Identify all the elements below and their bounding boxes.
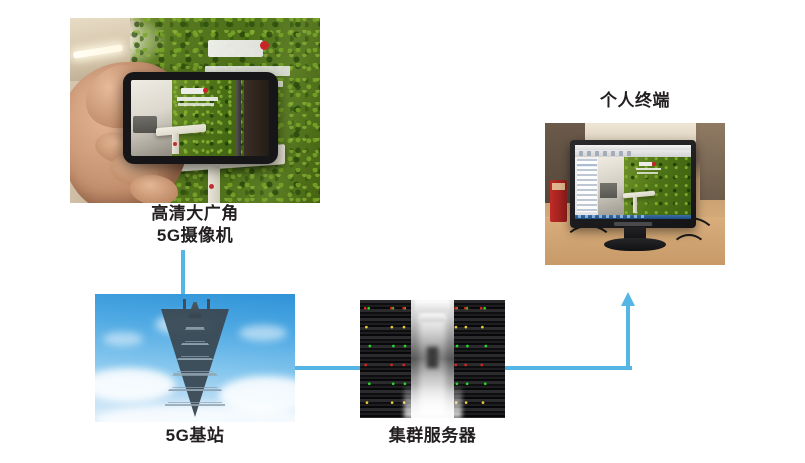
wall-logo xyxy=(208,40,263,57)
node-image-camera xyxy=(70,18,320,203)
node-image-base-station xyxy=(95,294,295,422)
tower-brace xyxy=(185,329,205,342)
server-rack xyxy=(463,300,476,418)
feed-shelf-post xyxy=(633,196,638,213)
screen-dark-edge xyxy=(244,80,269,156)
node-label-camera: 高清大广角 5G摄像机 xyxy=(70,203,320,248)
cable xyxy=(671,234,707,265)
monitor-brand-logo xyxy=(614,222,652,226)
tower-brace xyxy=(173,375,218,388)
phone-screen xyxy=(131,80,269,156)
screen-sign-strip xyxy=(177,97,218,101)
tower-lattice xyxy=(165,404,225,406)
ceiling-light xyxy=(419,315,445,322)
aisle-vanishing-point xyxy=(427,347,439,368)
ceiling-light xyxy=(415,300,450,313)
monitor-bezel xyxy=(570,140,696,228)
tower-antenna xyxy=(207,299,210,310)
os-taskbar xyxy=(575,215,691,219)
screen-pole xyxy=(236,80,241,156)
shelf-post xyxy=(208,166,221,203)
server-rack xyxy=(476,300,505,418)
feed-sign-strip xyxy=(636,168,660,171)
red-container xyxy=(550,180,566,223)
server-rack xyxy=(389,300,402,418)
tower-brace xyxy=(181,344,209,357)
arrow-up-icon xyxy=(621,292,635,306)
tower-brace xyxy=(168,390,222,403)
monitor-screen xyxy=(575,145,691,219)
video-feed xyxy=(598,157,691,215)
node-label-base-station: 5G基站 xyxy=(95,425,295,447)
connector-server-to-terminal-horizontal xyxy=(505,366,632,370)
node-image-terminal xyxy=(545,123,725,265)
app-toolbar xyxy=(575,150,691,157)
connector-base-station-to-server xyxy=(295,366,360,370)
server-rack xyxy=(360,300,389,418)
tower-antenna xyxy=(183,299,186,310)
connector-camera-to-base-station xyxy=(181,250,185,294)
screen-sign-subtext xyxy=(178,103,214,105)
screen-room-area xyxy=(131,80,172,156)
connector-server-to-terminal-vertical xyxy=(626,306,630,368)
node-image-server xyxy=(360,300,505,418)
sidebar-selected-row xyxy=(577,164,596,167)
diagram-canvas: 高清大广角 5G摄像机 5G基站 xyxy=(0,0,805,463)
app-sidebar xyxy=(575,157,598,215)
screen-shelf-post xyxy=(172,133,179,154)
reflective-floor xyxy=(404,387,462,418)
monitor-stand-base xyxy=(604,238,665,251)
feed-sign-subtext xyxy=(637,172,657,174)
feed-room-area xyxy=(598,157,624,215)
node-label-server: 集群服务器 xyxy=(360,425,505,447)
node-label-terminal: 个人终端 xyxy=(545,90,725,112)
smartphone xyxy=(123,72,278,165)
tower-brace xyxy=(177,359,213,372)
feed-wall-logo xyxy=(639,162,652,165)
right-partition xyxy=(700,123,725,200)
screen-wall-logo xyxy=(181,88,204,93)
